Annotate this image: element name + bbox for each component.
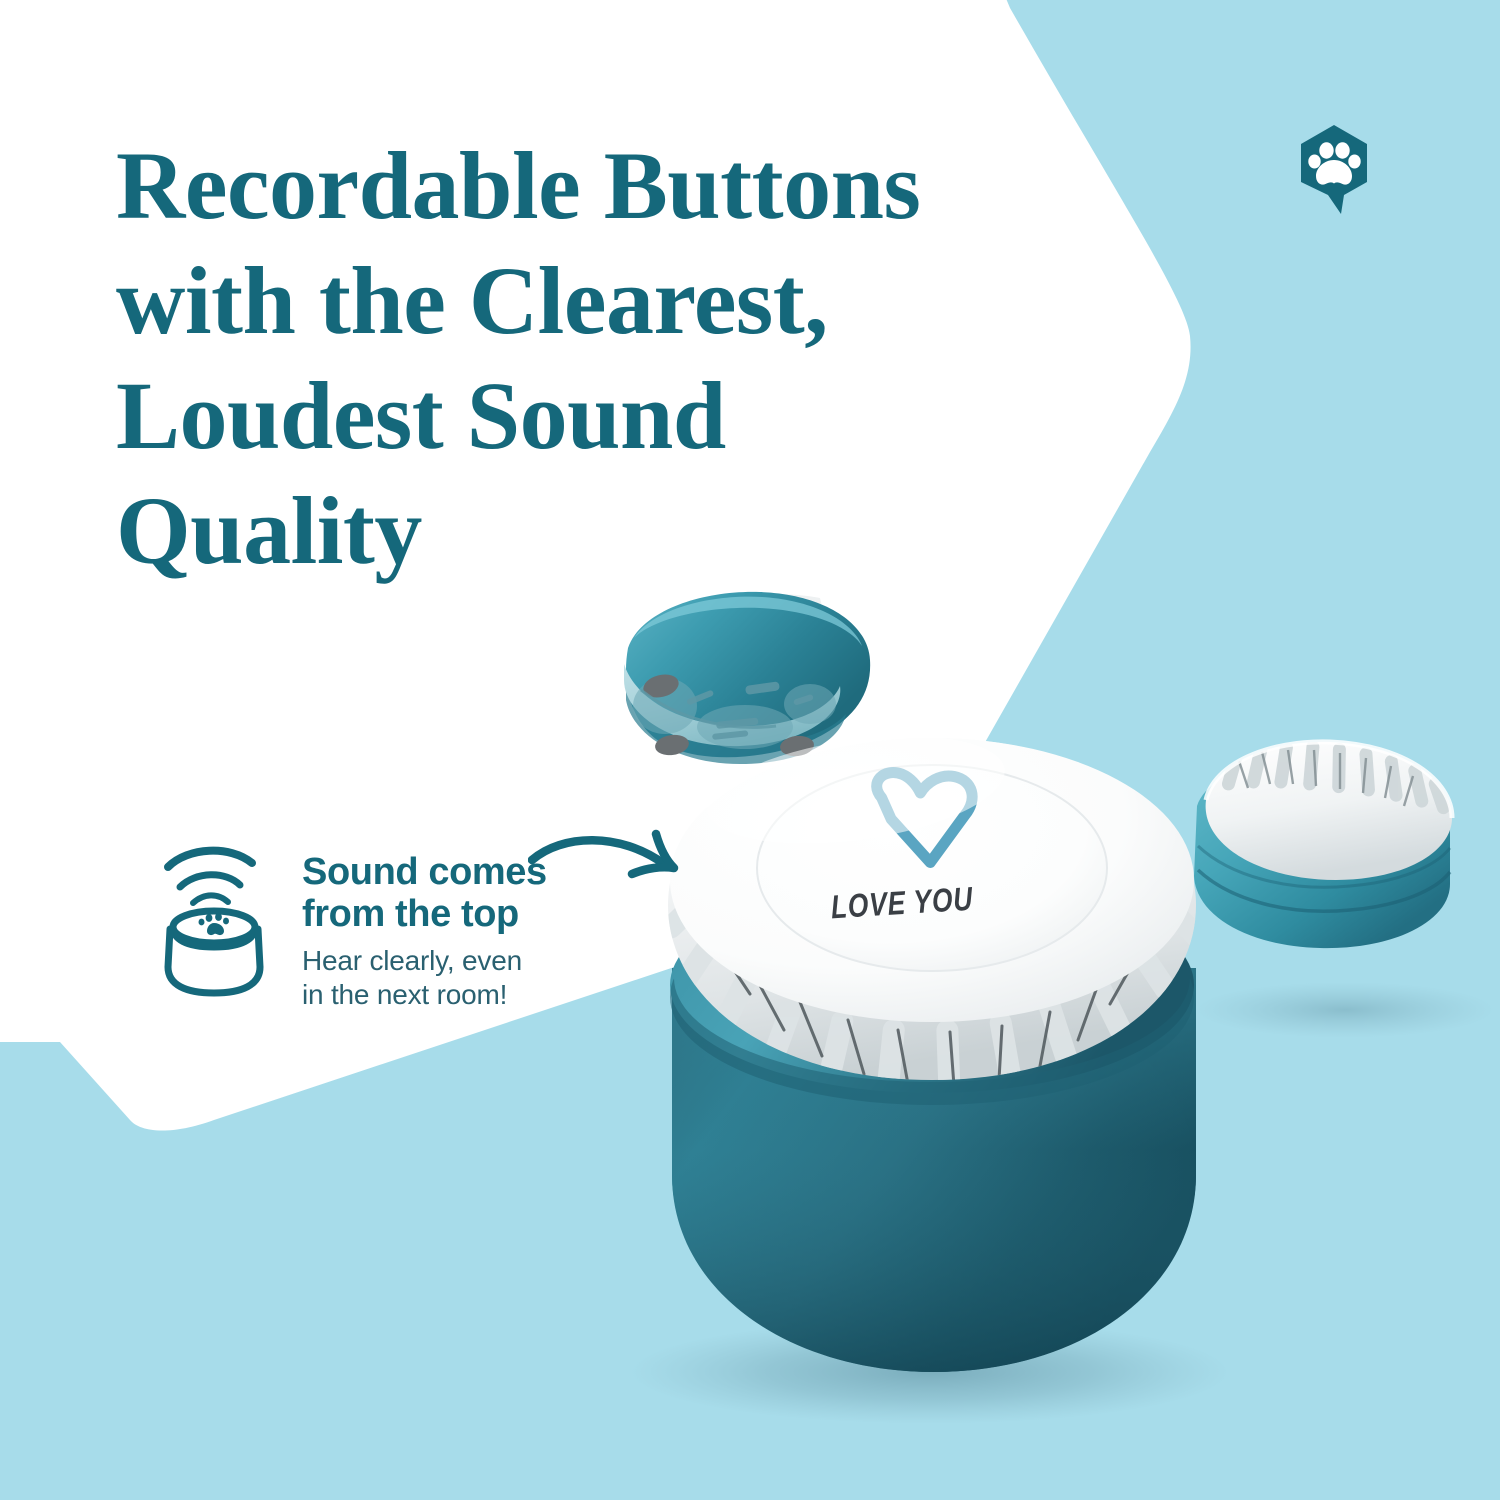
sound-from-top-icon — [160, 845, 280, 1005]
headline-line-1: Recordable Buttons — [116, 128, 1016, 243]
paw-speech-bubble-logo — [1297, 124, 1371, 216]
headline-line-2: with the Clearest, — [116, 243, 1016, 358]
callout-subtitle-line-2: in the next room! — [302, 978, 547, 1012]
right-button-shadow — [1195, 982, 1495, 1038]
sound-wave-arc-outer — [168, 851, 252, 867]
paw-print-icon — [199, 913, 230, 935]
headline-line-4: Quality — [116, 473, 1016, 588]
curved-arrow-pointing-to-product — [528, 826, 718, 926]
callout-subtitle: Hear clearly, even in the next room! — [302, 944, 547, 1012]
callout-title: Sound comes from the top — [302, 851, 547, 935]
callout-subtitle-line-1: Hear clearly, even — [302, 944, 547, 978]
page-headline: Recordable Buttons with the Clearest, Lo… — [116, 128, 1016, 588]
callout-title-line-2: from the top — [302, 893, 547, 935]
sound-from-top-callout: Sound comes from the top Hear clearly, e… — [160, 845, 547, 1012]
sound-wave-arc-inner — [193, 895, 228, 903]
floating-button-underside — [624, 592, 870, 764]
headline-line-3: Loudest Sound — [116, 358, 1016, 473]
callout-title-line-1: Sound comes — [302, 851, 547, 893]
product-marketing-image: Recordable Buttons with the Clearest, Lo… — [0, 0, 1500, 1500]
callout-text-block: Sound comes from the top Hear clearly, e… — [302, 845, 547, 1012]
sound-wave-arc-middle — [180, 875, 240, 887]
main-recordable-button — [629, 720, 1232, 1372]
floating-button-tilted — [1194, 740, 1452, 948]
